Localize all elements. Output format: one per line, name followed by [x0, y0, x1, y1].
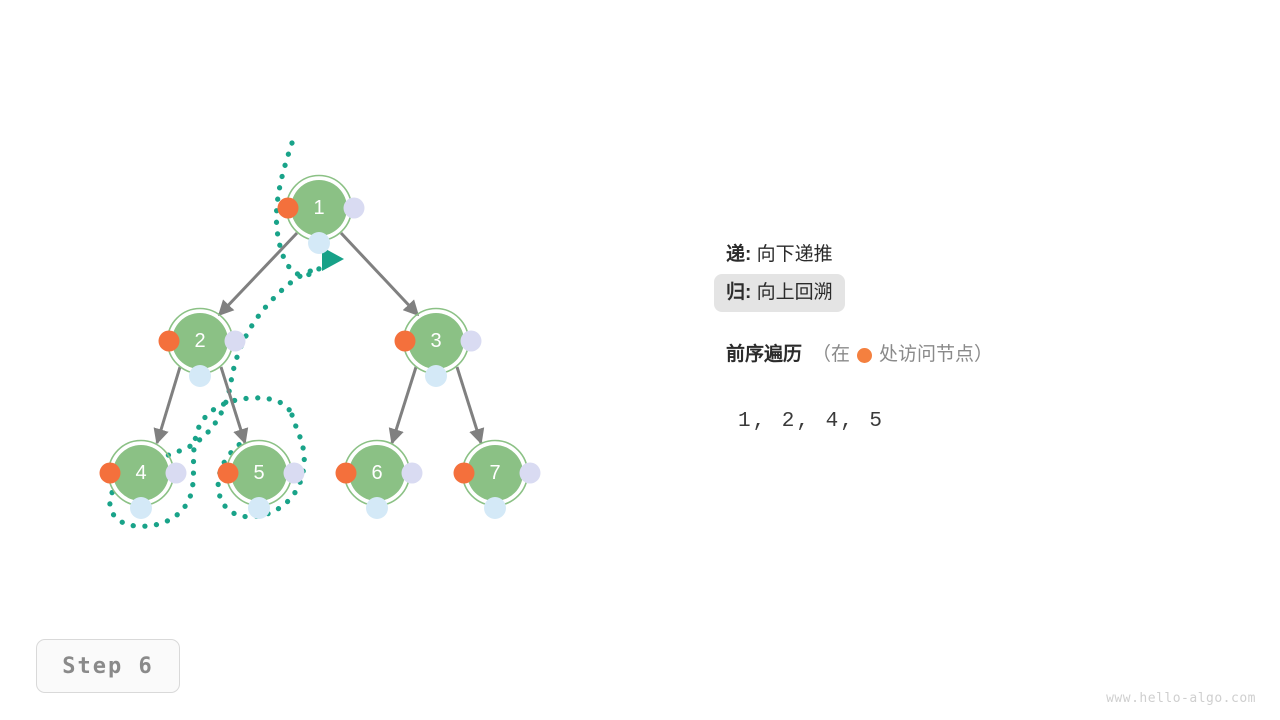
- tree-node-4[interactable]: 4: [100, 441, 187, 520]
- bottom-port-dot-icon: [425, 365, 447, 387]
- node-label: 2: [194, 330, 205, 352]
- right-port-dot-icon: [402, 463, 423, 484]
- tree-node-2[interactable]: 2: [159, 309, 246, 388]
- tree-node-6[interactable]: 6: [336, 441, 423, 520]
- visit-dot-icon: [336, 463, 357, 484]
- visit-dot-icon: [218, 463, 239, 484]
- visit-dot-icon: [454, 463, 475, 484]
- legend-line-recurse: 递: 向下递推: [726, 236, 1246, 274]
- node-label: 5: [253, 462, 264, 484]
- node-label: 3: [430, 330, 441, 352]
- node-label: 7: [489, 462, 500, 484]
- traversal-sequence: 1, 2, 4, 5: [738, 410, 884, 433]
- legend-label-recurse: 递:: [726, 244, 751, 265]
- node-label: 6: [371, 462, 382, 484]
- bottom-port-dot-icon: [248, 497, 270, 519]
- legend-label-return: 归:: [726, 282, 751, 303]
- tree-nodes: 1 2 3: [100, 176, 541, 520]
- step-badge: Step 6: [36, 639, 180, 693]
- bottom-port-dot-icon: [130, 497, 152, 519]
- right-port-dot-icon: [520, 463, 541, 484]
- visit-dot-icon: [159, 331, 180, 352]
- right-port-dot-icon: [284, 463, 305, 484]
- bottom-port-dot-icon: [484, 497, 506, 519]
- visit-dot-icon: [857, 348, 872, 363]
- right-port-dot-icon: [225, 331, 246, 352]
- legend-line-return: 归: 向上回溯: [714, 274, 845, 312]
- edge-2-4: [157, 367, 180, 443]
- traversal-paren-close: 处访问节点）: [879, 340, 993, 370]
- diagram-canvas: 1 2 3: [0, 0, 1280, 720]
- visit-dot-icon: [395, 331, 416, 352]
- legend-text-recurse: 向下递推: [751, 244, 832, 265]
- right-port-dot-icon: [166, 463, 187, 484]
- legend-text-return: 向上回溯: [751, 282, 832, 303]
- watermark: www.hello-algo.com: [1106, 691, 1256, 706]
- traversal-title: 前序遍历: [726, 340, 802, 370]
- edge-3-6: [392, 367, 416, 443]
- edge-1-2: [219, 233, 297, 315]
- traversal-paren-open: （在: [812, 340, 850, 370]
- visit-dot-icon: [100, 463, 121, 484]
- right-port-dot-icon: [461, 331, 482, 352]
- edge-1-3: [341, 233, 418, 315]
- legend-spacer: [726, 312, 1246, 326]
- traversal-heading: 前序遍历 （在 处访问节点）: [726, 340, 1246, 370]
- legend-panel: 递: 向下递推 归: 向上回溯 前序遍历 （在 处访问节点）: [726, 236, 1246, 370]
- bottom-port-dot-icon: [366, 497, 388, 519]
- tree-node-3[interactable]: 3: [395, 309, 482, 388]
- node-label: 1: [313, 197, 324, 219]
- bottom-port-dot-icon: [308, 232, 330, 254]
- right-port-dot-icon: [344, 198, 365, 219]
- node-label: 4: [135, 462, 146, 484]
- visit-dot-icon: [278, 198, 299, 219]
- bottom-port-dot-icon: [189, 365, 211, 387]
- edge-3-7: [457, 367, 481, 443]
- tree-node-7[interactable]: 7: [454, 441, 541, 520]
